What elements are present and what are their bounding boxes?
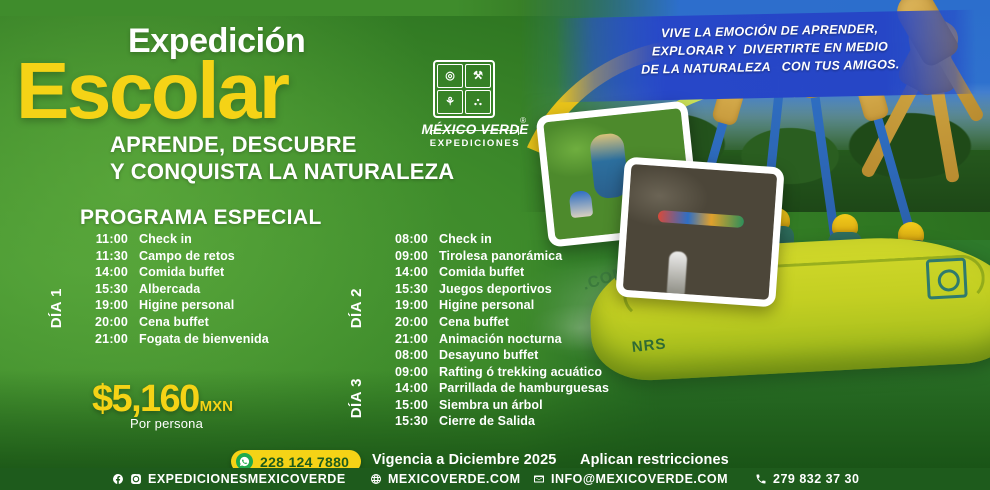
schedule-activity: Desayuno buffet — [439, 348, 538, 362]
photo-waterfall — [615, 157, 784, 308]
promo-banner: .COM NRS VIVE LA EMOCIÓN DE APRENDER, EX… — [0, 0, 990, 490]
subtitle-line-2: Y CONQUISTA LA NATURALEZA — [110, 158, 454, 185]
email-text: INFO@MEXICOVERDE.COM — [551, 472, 728, 486]
globe-icon — [370, 473, 382, 485]
schedule-row: 11:30Campo de retos — [82, 249, 269, 266]
schedule-activity: Higine personal — [139, 298, 234, 312]
schedule-row: 09:00Tirolesa panorámica — [382, 249, 562, 266]
schedule-row: 21:00Animación nocturna — [382, 332, 562, 349]
schedule-activity: Tirolesa panorámica — [439, 249, 562, 263]
program-title: PROGRAMA ESPECIAL — [80, 206, 322, 230]
schedule-activity: Check in — [139, 232, 192, 246]
schedule-row: 20:00Cena buffet — [382, 315, 562, 332]
phone-icon — [755, 473, 767, 485]
schedule-activity: Rafting ó trekking acuático — [439, 365, 602, 379]
schedule-time: 14:00 — [82, 265, 128, 279]
schedule-time: 09:00 — [382, 249, 428, 263]
schedule-activity: Comida buffet — [139, 265, 224, 279]
page-title: Escolar — [16, 52, 288, 130]
schedule-row: 14:00Comida buffet — [82, 265, 269, 282]
day-1-rows: 11:00Check in11:30Campo de retos14:00Com… — [82, 232, 269, 348]
schedule-time: 19:00 — [82, 298, 128, 312]
schedule-row: 08:00Desayuno buffet — [382, 348, 609, 365]
schedule-activity: Siembra un árbol — [439, 398, 543, 412]
price-per-person: Por persona — [130, 416, 203, 431]
day-1-label: DÍA 1 — [48, 288, 65, 328]
facebook-icon[interactable] — [112, 473, 124, 485]
brand-logo: ◎ ⚒ ⚘ ⛬ MÉXICO VERDE ® EXPEDICIONES — [425, 60, 525, 160]
schedule-activity: Parrillada de hamburguesas — [439, 381, 609, 395]
price-amount-block: $5,160MXN — [92, 378, 233, 421]
schedule-row: 09:00Rafting ó trekking acuático — [382, 365, 609, 382]
schedule-row: 08:00Check in — [382, 232, 562, 249]
schedule-time: 15:30 — [382, 414, 428, 428]
schedule-time: 19:00 — [382, 298, 428, 312]
restrictions-text: Aplican restricciones — [580, 452, 729, 468]
phone-text: 279 832 37 30 — [773, 472, 859, 486]
schedule-activity: Albercada — [139, 282, 200, 296]
price-currency: MXN — [200, 398, 233, 415]
footer-email[interactable]: INFO@MEXICOVERDE.COM — [533, 472, 728, 486]
schedule-time: 11:00 — [82, 232, 128, 246]
schedule-time: 14:00 — [382, 381, 428, 395]
schedule-activity: Higine personal — [439, 298, 534, 312]
photo-waterfall-image — [623, 164, 777, 300]
day-3-rows: 08:00Desayuno buffet09:00Rafting ó trekk… — [382, 348, 609, 431]
footer-bar: EXPEDICIONESMEXICOVERDE MEXICOVERDE.COM … — [0, 468, 990, 490]
schedule-time: 08:00 — [382, 232, 428, 246]
schedule-activity: Cena buffet — [439, 315, 509, 329]
schedule-time: 11:30 — [82, 249, 128, 263]
validity-text: Vigencia a Diciembre 2025 — [372, 452, 556, 468]
schedule-row: 11:00Check in — [82, 232, 269, 249]
day-2-rows: 08:00Check in09:00Tirolesa panorámica14:… — [382, 232, 562, 348]
spiral-glyph: ◎ — [437, 64, 463, 88]
subtitle: APRENDE, DESCUBRE Y CONQUISTA LA NATURAL… — [110, 131, 454, 185]
price-amount: $5,160 — [92, 378, 199, 420]
schedule-row: 19:00Higine personal — [382, 298, 562, 315]
schedule-time: 15:30 — [382, 282, 428, 296]
schedule-activity: Comida buffet — [439, 265, 524, 279]
schedule-activity: Campo de retos — [139, 249, 235, 263]
logo-name: MÉXICO VERDE — [418, 122, 532, 137]
lizard-glyph: ⛬ — [465, 90, 491, 114]
logo-subtitle: EXPEDICIONES — [418, 138, 532, 149]
schedule-activity: Animación nocturna — [439, 332, 562, 346]
day-2-label: DÍA 2 — [348, 288, 365, 328]
schedule-time: 20:00 — [382, 315, 428, 329]
schedule-time: 15:30 — [82, 282, 128, 296]
schedule-row: 19:00Higine personal — [82, 298, 269, 315]
schedule-time: 20:00 — [82, 315, 128, 329]
registered-mark: ® — [520, 116, 526, 125]
schedule-row: 14:00Comida buffet — [382, 265, 562, 282]
schedule-row: 15:00Siembra un árbol — [382, 398, 609, 415]
footer-website[interactable]: MEXICOVERDE.COM — [370, 472, 521, 486]
footer-social[interactable]: EXPEDICIONESMEXICOVERDE — [112, 472, 346, 486]
schedule-row: 21:00Fogata de bienvenida — [82, 332, 269, 349]
figure-glyph: ⚒ — [465, 64, 491, 88]
footer-phone[interactable]: 279 832 37 30 — [755, 472, 859, 486]
subtitle-line-1: APRENDE, DESCUBRE — [110, 131, 454, 158]
instagram-icon[interactable] — [130, 473, 142, 485]
tagline-ribbon: VIVE LA EMOCIÓN DE APRENDER, EXPLORAR Y … — [559, 18, 980, 81]
schedule-time: 21:00 — [382, 332, 428, 346]
website-text: MEXICOVERDE.COM — [388, 472, 521, 486]
helmet-icon — [832, 214, 858, 234]
raft-brand-text: NRS — [631, 335, 667, 356]
envelope-icon — [533, 473, 545, 485]
schedule-activity: Cena buffet — [139, 315, 209, 329]
dancer-glyph: ⚘ — [437, 90, 463, 114]
schedule-activity: Juegos deportivos — [439, 282, 552, 296]
schedule-activity: Cierre de Salida — [439, 414, 535, 428]
schedule-row: 15:30Cierre de Salida — [382, 414, 609, 431]
schedule-row: 15:30Albercada — [82, 282, 269, 299]
logo-glyph-grid: ◎ ⚒ ⚘ ⛬ — [433, 60, 495, 118]
schedule-activity: Fogata de bienvenida — [139, 332, 269, 346]
schedule-time: 08:00 — [382, 348, 428, 362]
schedule-time: 15:00 — [382, 398, 428, 412]
day-3-label: DÍA 3 — [348, 378, 365, 418]
schedule-time: 14:00 — [382, 265, 428, 279]
schedule-time: 21:00 — [82, 332, 128, 346]
schedule-time: 09:00 — [382, 365, 428, 379]
raft-glyph-decoration — [926, 258, 968, 300]
schedule-activity: Check in — [439, 232, 492, 246]
schedule-row: 15:30Juegos deportivos — [382, 282, 562, 299]
social-handle: EXPEDICIONESMEXICOVERDE — [148, 472, 346, 486]
schedule-row: 20:00Cena buffet — [82, 315, 269, 332]
schedule-row: 14:00Parrillada de hamburguesas — [382, 381, 609, 398]
